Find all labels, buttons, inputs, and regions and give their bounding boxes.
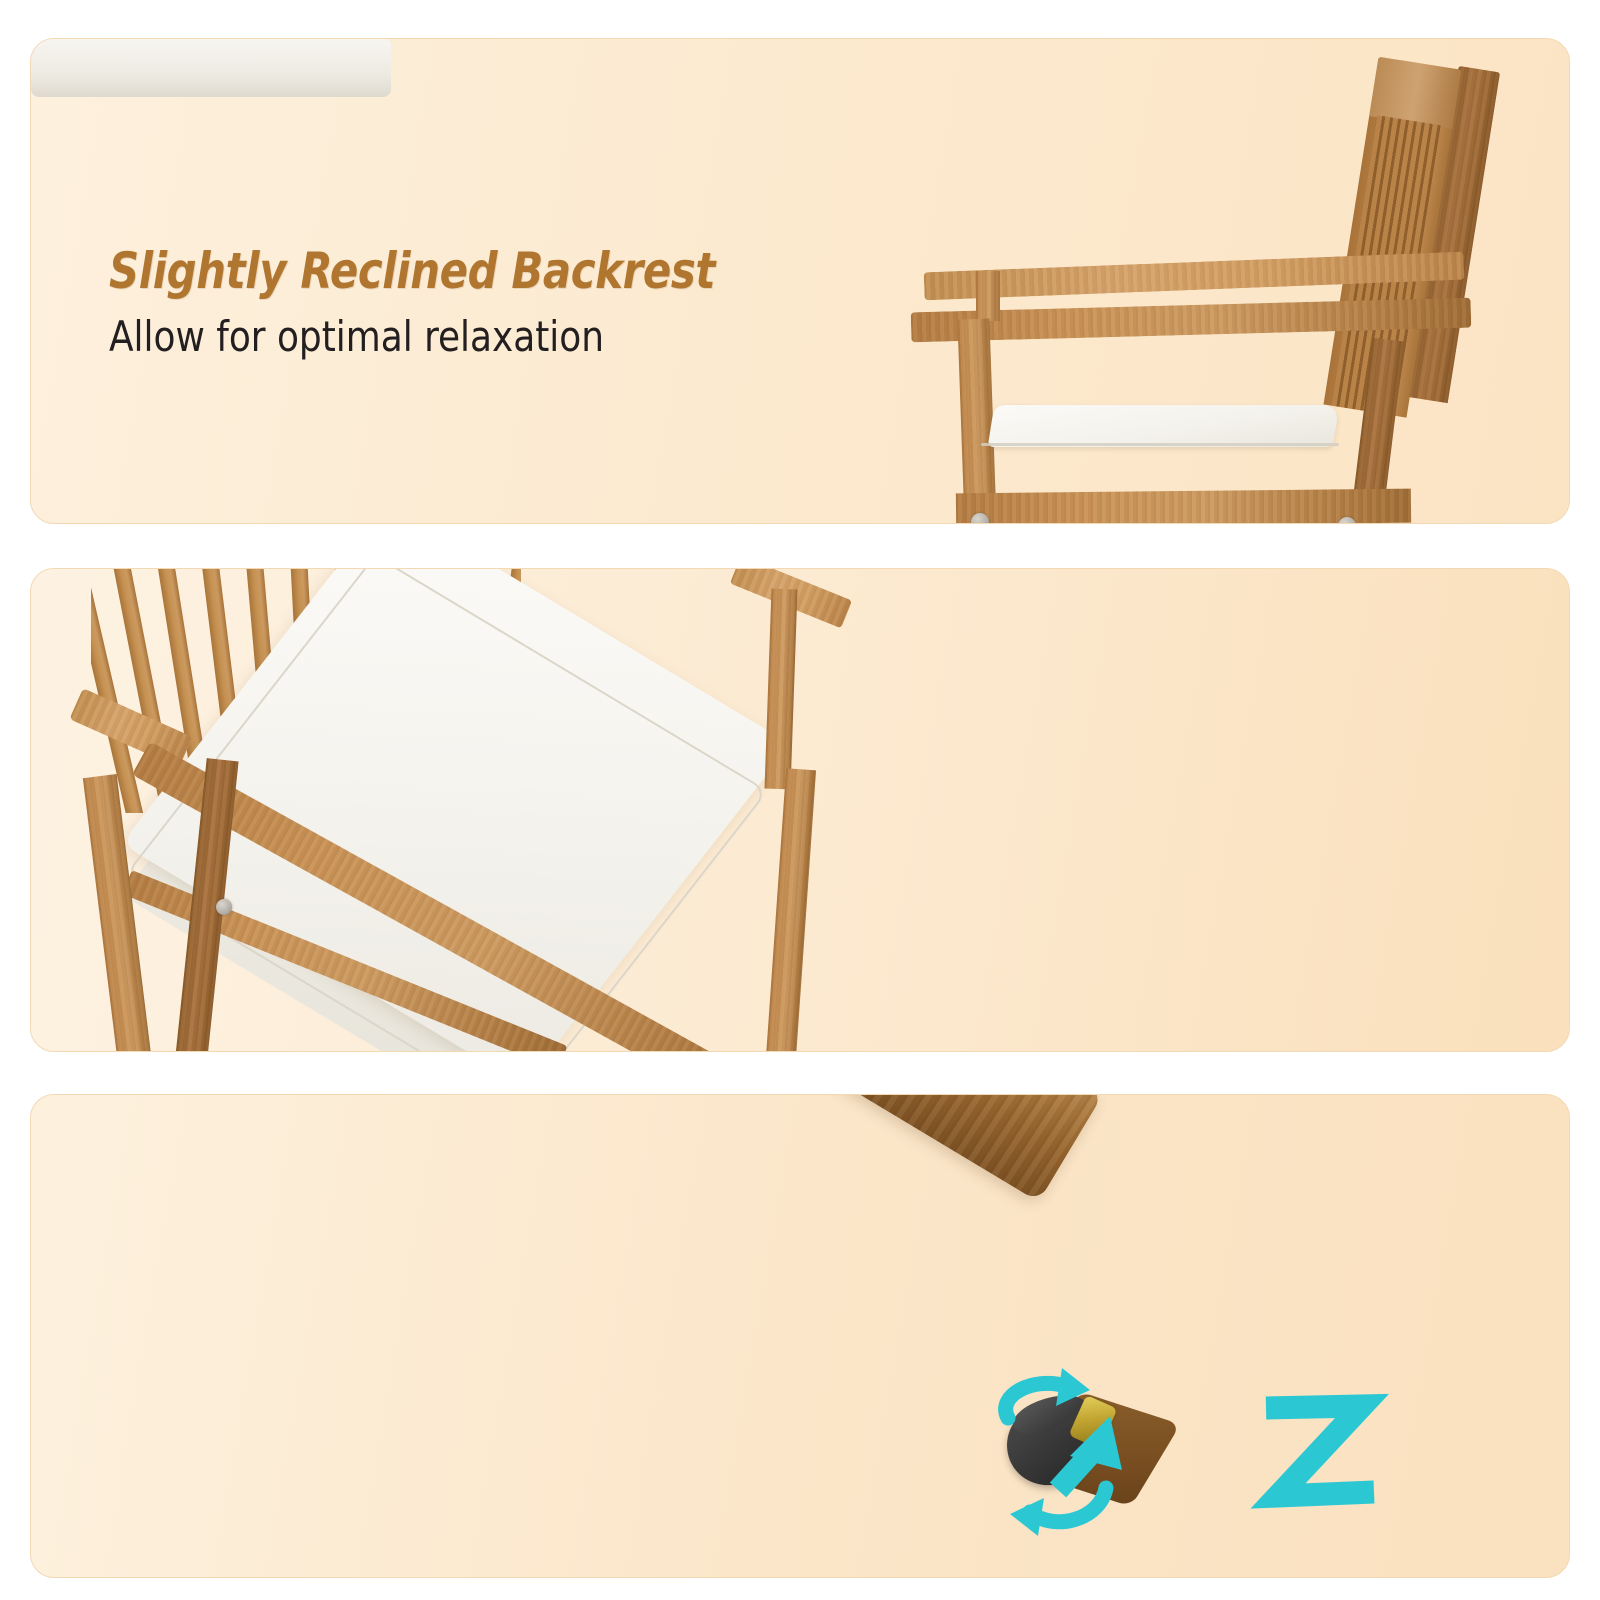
height-adjust-zigzag-icon xyxy=(1250,1380,1400,1530)
pointer-arrow-icon xyxy=(1040,1398,1170,1518)
feature-panel-backrest: Slightly Reclined Backrest Allow for opt… xyxy=(30,38,1570,524)
chair-leg-beam xyxy=(404,1094,1103,1202)
seat-cushion-seam xyxy=(981,443,1339,446)
infographic-page: Slightly Reclined Backrest Allow for opt… xyxy=(0,0,1600,1600)
panel-1-subline: Allow for optimal relaxation xyxy=(109,314,728,360)
chair-seat-closeup-illustration xyxy=(31,569,1570,1052)
screw-cap-icon xyxy=(216,899,232,915)
right-armrest-post xyxy=(765,589,798,790)
feature-panel-armrests: Streamlined Armrests Promote a comfortab… xyxy=(30,568,1570,1052)
seat-cushion-top xyxy=(988,405,1340,447)
seat-cushion-front xyxy=(31,39,391,97)
armrest-support-post xyxy=(976,271,1000,321)
panel-1-text: Slightly Reclined Backrest Allow for opt… xyxy=(109,245,761,360)
panel-1-headline: Slightly Reclined Backrest xyxy=(109,245,715,298)
right-leg xyxy=(766,768,816,1052)
screw-cap-icon xyxy=(971,513,989,524)
